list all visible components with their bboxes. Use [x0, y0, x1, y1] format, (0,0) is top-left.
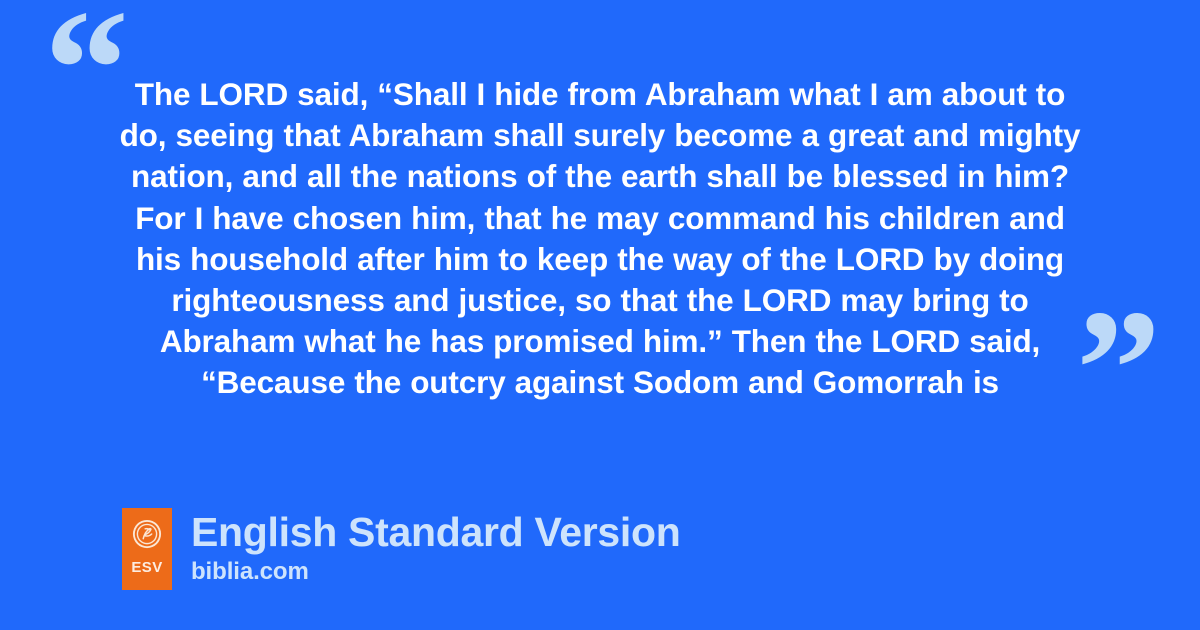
attribution: ESV English Standard Version biblia.com — [122, 508, 680, 590]
esv-seal-icon — [132, 519, 162, 549]
closing-quote-mark-icon: ” — [1076, 284, 1159, 454]
attribution-text: English Standard Version biblia.com — [191, 508, 680, 585]
quote-text: The LORD said, “Shall I hide from Abraha… — [118, 74, 1082, 404]
bible-version-name: English Standard Version — [191, 509, 680, 556]
esv-abbreviation-label: ESV — [131, 560, 162, 575]
esv-logo-badge: ESV — [122, 508, 172, 590]
site-url-label: biblia.com — [191, 558, 680, 585]
verse-card: “ The LORD said, “Shall I hide from Abra… — [0, 0, 1200, 630]
opening-quote-mark-icon: “ — [44, 0, 127, 154]
